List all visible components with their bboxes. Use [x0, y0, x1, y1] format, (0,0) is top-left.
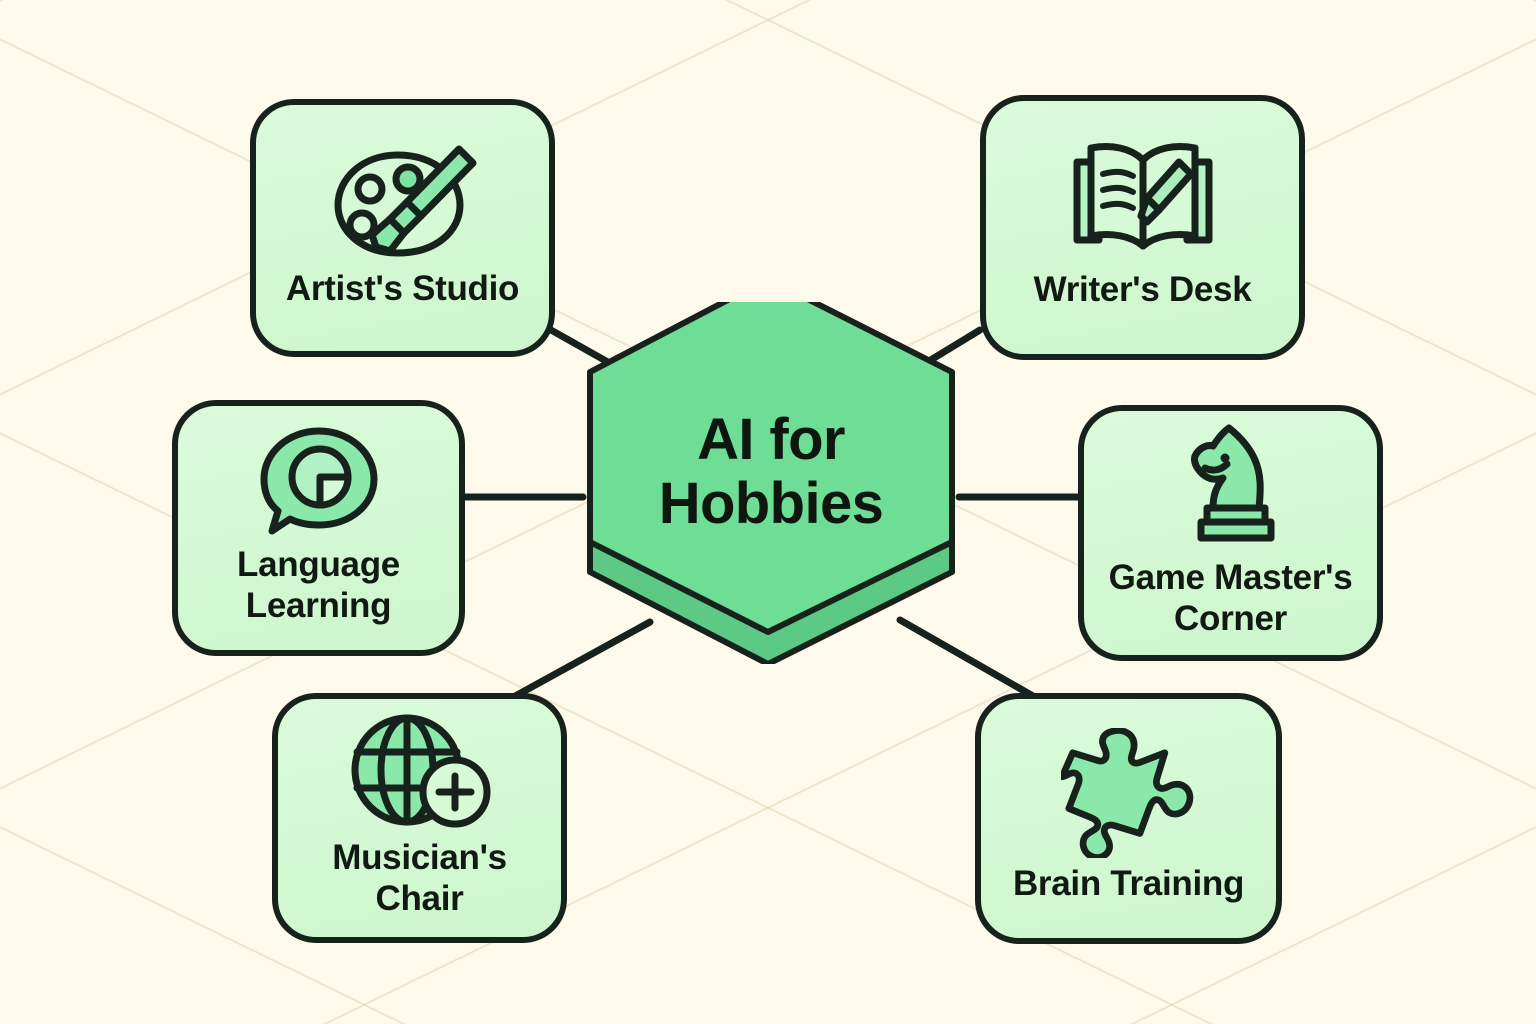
- node-label-language-learning: Language Learning: [237, 545, 400, 626]
- open-book-pencil-icon: [1067, 140, 1219, 264]
- globe-plus-icon: [345, 712, 495, 832]
- speech-bubble-icon: [258, 425, 380, 539]
- node-label-game-masters-corner: Game Master's Corner: [1109, 558, 1353, 639]
- diagram-canvas: AI for Hobbies Artist's Studio: [0, 0, 1536, 1024]
- node-brain-training[interactable]: Brain Training: [975, 693, 1282, 944]
- node-label-brain-training: Brain Training: [1013, 864, 1244, 905]
- node-label-musicians-chair: Musician's Chair: [332, 838, 507, 919]
- puzzle-piece-icon: [1061, 728, 1197, 858]
- node-label-artists-studio: Artist's Studio: [286, 269, 519, 310]
- node-label-writers-desk: Writer's Desk: [1034, 270, 1252, 311]
- palette-brush-icon: [328, 143, 478, 263]
- center-node-hexagon[interactable]: AI for Hobbies: [582, 302, 960, 664]
- node-musicians-chair[interactable]: Musician's Chair: [272, 693, 567, 943]
- node-game-masters-corner[interactable]: Game Master's Corner: [1078, 405, 1383, 661]
- node-artists-studio[interactable]: Artist's Studio: [250, 99, 555, 357]
- node-writers-desk[interactable]: Writer's Desk: [980, 95, 1305, 360]
- chess-knight-icon: [1177, 422, 1285, 552]
- node-language-learning[interactable]: Language Learning: [172, 400, 465, 656]
